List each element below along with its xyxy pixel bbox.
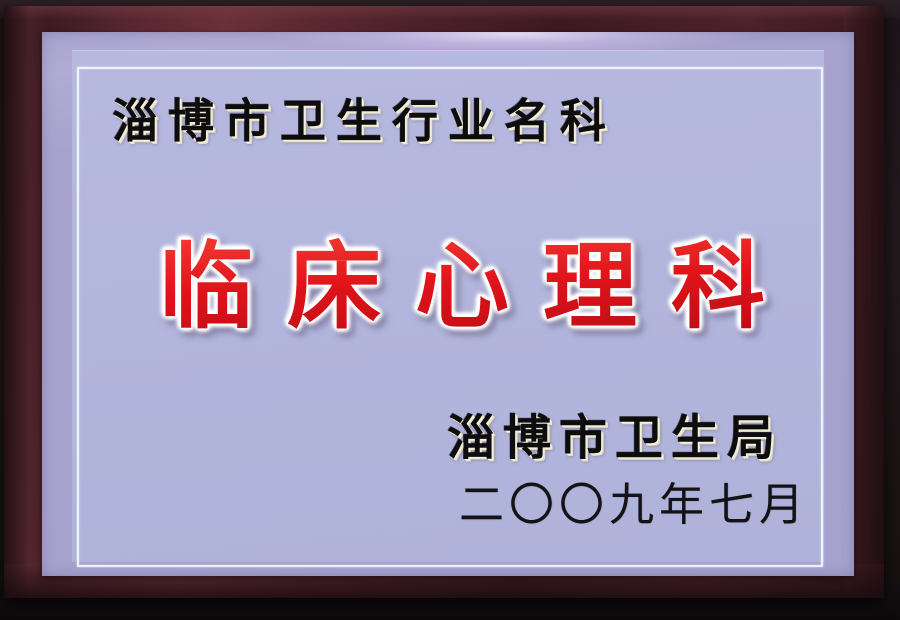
wooden-frame: 淄博市卫生行业名科 临床心理科 淄博市卫生局 二〇〇九年七月 xyxy=(4,6,884,598)
frame-highlight-top xyxy=(4,6,884,20)
plaque-date-text: 二〇〇九年七月 xyxy=(459,480,809,530)
plaque-header-text: 淄博市卫生行业名科 xyxy=(112,95,616,147)
plaque-main-title: 临床心理科 xyxy=(159,237,799,337)
plaque-photo-scene: 淄博市卫生行业名科 临床心理科 淄博市卫生局 二〇〇九年七月 xyxy=(0,0,900,620)
plaque-issuer-text: 淄博市卫生局 xyxy=(447,411,783,465)
